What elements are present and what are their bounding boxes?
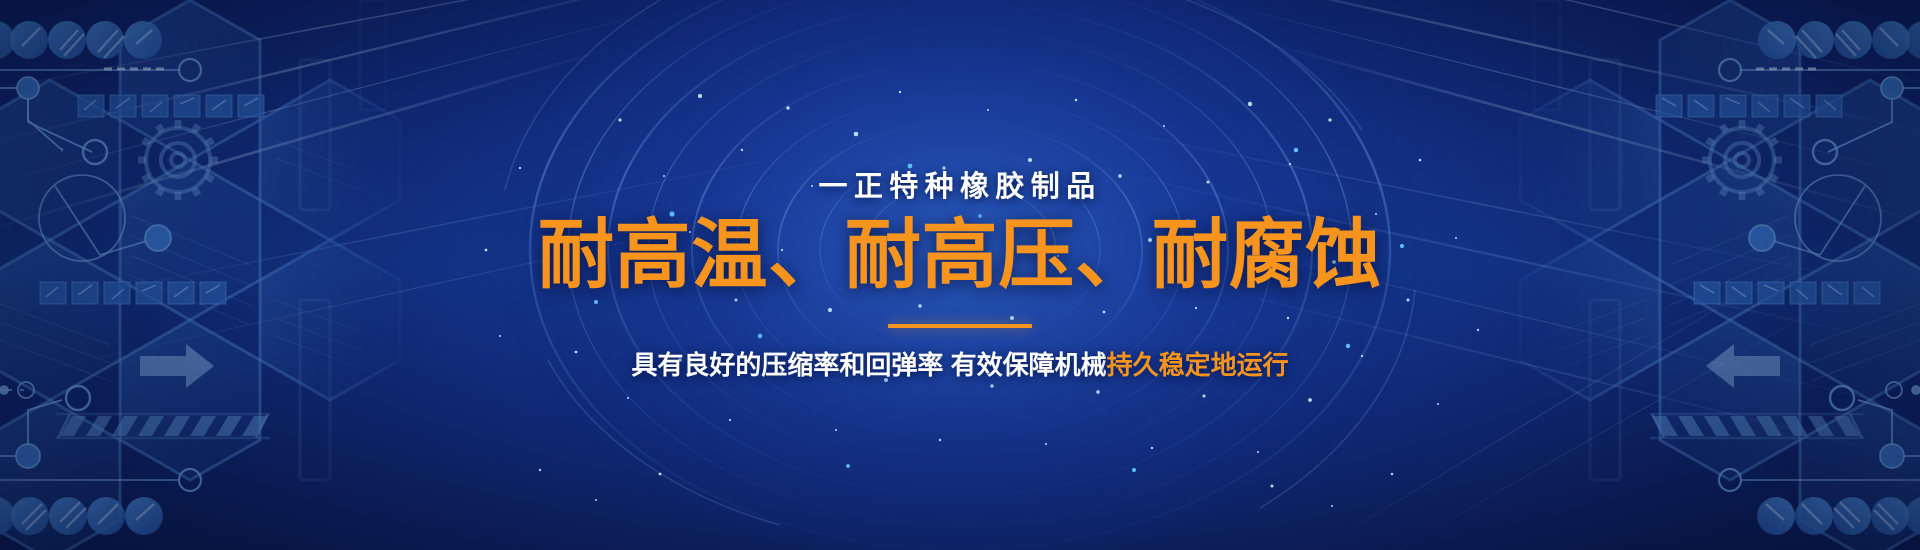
headline-divider bbox=[888, 324, 1032, 328]
hero-copy-block: 一正特种橡胶制品 耐高温、耐高压、耐腐蚀 具有良好的压缩率和回弹率 有效保障机械… bbox=[0, 0, 1920, 550]
hero-subtitle: 具有良好的压缩率和回弹率 有效保障机械持久稳定地运行 bbox=[631, 352, 1288, 378]
hero-headline: 耐高温、耐高压、耐腐蚀 bbox=[538, 218, 1382, 294]
hero-subtitle-orange: 持久稳定地运行 bbox=[1107, 350, 1289, 380]
brand-eyebrow: 一正特种橡胶制品 bbox=[818, 173, 1101, 202]
hero-subtitle-white: 具有良好的压缩率和回弹率 有效保障机械 bbox=[631, 350, 1106, 380]
hero-banner: 一正特种橡胶制品 耐高温、耐高压、耐腐蚀 具有良好的压缩率和回弹率 有效保障机械… bbox=[0, 0, 1920, 550]
